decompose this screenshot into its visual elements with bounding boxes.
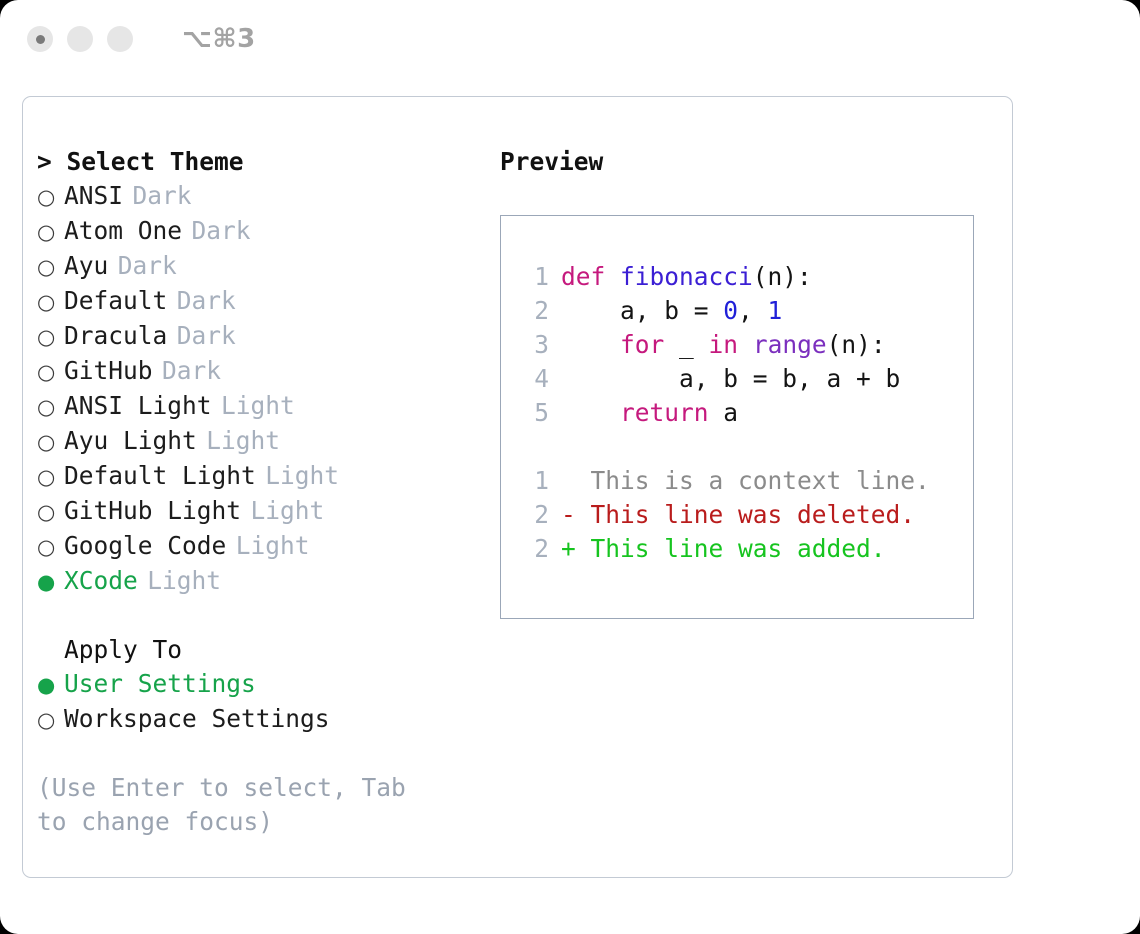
traffic-light-2[interactable] [67,26,93,52]
token-pl [561,330,620,359]
theme-variant-tag: Light [206,424,280,458]
theme-variant-tag: Light [236,529,310,563]
traffic-light-3[interactable] [107,26,133,52]
theme-option-label: ANSI [64,179,123,213]
code-line-text: def fibonacci(n): [561,260,812,294]
code-line-text: for _ in range(n): [561,328,886,362]
shortcut-badge: ⌥⌘3 [182,24,256,54]
token-pl: a [709,398,739,427]
line-number: 2 [517,498,549,532]
theme-variant-tag: Dark [177,284,236,318]
theme-option-8[interactable]: ○Default LightLight [37,459,487,494]
theme-option-6[interactable]: ○ANSI LightLight [37,389,487,424]
code-line-text: a, b = b, a + b [561,362,900,396]
theme-option-label: Default Light [64,459,256,493]
line-number: 1 [517,260,549,294]
code-line-text: a, b = 0, 1 [561,294,782,328]
theme-option-label: Dracula [64,319,167,353]
theme-option-list: ○ANSIDark○Atom OneDark○AyuDark○DefaultDa… [37,179,487,599]
theme-option-label: Google Code [64,529,226,563]
token-pl [738,330,753,359]
radio-unselected-icon: ○ [37,460,64,494]
radio-unselected-icon: ○ [37,285,64,319]
theme-option-10[interactable]: ○Google CodeLight [37,529,487,564]
token-pl: a, b = [561,296,723,325]
keyboard-hint: (Use Enter to select, Tab to change focu… [37,771,442,839]
line-number: 2 [517,294,549,328]
preview-heading: Preview [500,145,1000,179]
section-spacer [37,599,487,633]
theme-option-2[interactable]: ○AyuDark [37,249,487,284]
token-num: 0 [723,296,738,325]
code-line-1: 2 a, b = 0, 1 [517,294,973,328]
theme-variant-tag: Dark [162,354,221,388]
theme-option-label: Ayu Light [64,424,197,458]
code-sample: 1def fibonacci(n):2 a, b = 0, 13 for _ i… [517,260,973,430]
app-window: ⌥⌘3 > Select Theme ○ANSIDark○Atom OneDar… [0,0,1140,934]
code-spacer [517,430,973,464]
token-ctx: This is a context line. [561,466,930,495]
theme-variant-tag: Dark [118,249,177,283]
diff-line-text: + This line was added. [561,532,886,566]
diff-line-1: 2- This line was deleted. [517,498,973,532]
token-del: - This line was deleted. [561,500,915,529]
token-pl [561,398,620,427]
diff-line-0: 1 This is a context line. [517,464,973,498]
theme-preview-box: 1def fibonacci(n):2 a, b = 0, 13 for _ i… [500,215,974,619]
line-number: 1 [517,464,549,498]
theme-option-label: Ayu [64,249,108,283]
radio-unselected-icon: ○ [37,180,64,214]
theme-option-4[interactable]: ○DraculaDark [37,319,487,354]
theme-option-7[interactable]: ○Ayu LightLight [37,424,487,459]
token-kw: for [620,330,664,359]
radio-unselected-icon: ○ [37,215,64,249]
code-line-0: 1def fibonacci(n): [517,260,973,294]
theme-option-label: GitHub Light [64,494,241,528]
token-pl: _ [664,330,708,359]
code-line-3: 4 a, b = b, a + b [517,362,973,396]
token-pl: , [738,296,768,325]
traffic-light-1[interactable] [27,26,53,52]
theme-option-5[interactable]: ○GitHubDark [37,354,487,389]
theme-option-label: ANSI Light [64,389,212,423]
theme-selector-column: > Select Theme ○ANSIDark○Atom OneDark○Ay… [37,145,487,839]
theme-variant-tag: Light [251,494,325,528]
code-line-text: return a [561,396,738,430]
theme-option-label: Atom One [64,214,182,248]
token-pl: (n): [753,262,812,291]
apply-to-option-1[interactable]: ○Workspace Settings [37,702,487,737]
diff-line-text: This is a context line. [561,464,930,498]
apply-to-option-list: ●User Settings○Workspace Settings [37,667,487,737]
select-theme-heading: > Select Theme [37,145,487,179]
theme-option-11[interactable]: ●XCodeLight [37,564,487,599]
token-kw: in [709,330,739,359]
theme-variant-tag: Light [265,459,339,493]
code-line-2: 3 for _ in range(n): [517,328,973,362]
token-kw: return [620,398,709,427]
line-number: 5 [517,396,549,430]
diff-line-2: 2+ This line was added. [517,532,973,566]
line-number: 2 [517,532,549,566]
token-pl: a, b = b, a + b [561,364,900,393]
line-number: 4 [517,362,549,396]
code-line-4: 5 return a [517,396,973,430]
theme-variant-tag: Dark [192,214,251,248]
token-num: 1 [768,296,783,325]
main-panel: > Select Theme ○ANSIDark○Atom OneDark○Ay… [22,96,1013,878]
apply-to-heading: Apply To [37,633,487,667]
token-fn: fibonacci [620,262,753,291]
radio-unselected-icon: ○ [37,495,64,529]
diff-sample: 1 This is a context line.2- This line wa… [517,464,973,566]
theme-option-label: Default [64,284,167,318]
token-bi: range [753,330,827,359]
theme-option-label: GitHub [64,354,153,388]
theme-variant-tag: Dark [133,179,192,213]
theme-option-0[interactable]: ○ANSIDark [37,179,487,214]
radio-selected-icon: ● [37,565,64,599]
theme-variant-tag: Light [221,389,295,423]
token-add: + This line was added. [561,534,886,563]
theme-variant-tag: Light [147,564,221,598]
theme-option-1[interactable]: ○Atom OneDark [37,214,487,249]
theme-variant-tag: Dark [177,319,236,353]
line-number: 3 [517,328,549,362]
radio-unselected-icon: ○ [37,390,64,424]
radio-unselected-icon: ○ [37,355,64,389]
theme-option-label: XCode [64,564,138,598]
apply-to-option-0[interactable]: ●User Settings [37,667,487,702]
theme-option-3[interactable]: ○DefaultDark [37,284,487,319]
diff-line-text: - This line was deleted. [561,498,915,532]
radio-unselected-icon: ○ [37,320,64,354]
theme-option-9[interactable]: ○GitHub LightLight [37,494,487,529]
preview-column: Preview 1def fibonacci(n):2 a, b = 0, 13… [500,145,1000,619]
apply-to-option-label: User Settings [64,667,256,701]
apply-to-option-label: Workspace Settings [64,702,330,736]
title-bar: ⌥⌘3 [0,0,1140,78]
token-kw: def [561,262,620,291]
radio-unselected-icon: ○ [37,250,64,284]
radio-unselected-icon: ○ [37,703,64,737]
radio-unselected-icon: ○ [37,530,64,564]
token-pl: (n): [827,330,886,359]
radio-unselected-icon: ○ [37,425,64,459]
radio-selected-icon: ● [37,668,64,702]
